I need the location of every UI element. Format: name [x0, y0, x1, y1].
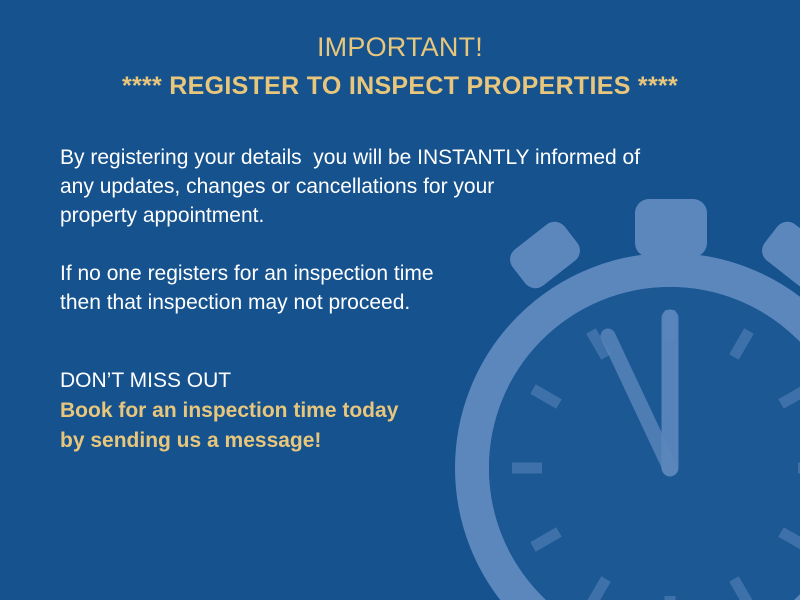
slide-content: IMPORTANT! **** REGISTER TO INSPECT PROP…	[0, 0, 800, 600]
cta-dont-miss-out: DON’T MISS OUT	[60, 366, 620, 396]
heading-important: IMPORTANT!	[0, 30, 800, 64]
paragraph-registering-details: By registering your details you will be …	[60, 143, 720, 230]
heading-block: IMPORTANT! **** REGISTER TO INSPECT PROP…	[0, 30, 800, 104]
paragraph-no-one-registers: If no one registers for an inspection ti…	[60, 259, 720, 317]
heading-register-to-inspect: **** REGISTER TO INSPECT PROPERTIES ****	[0, 68, 800, 104]
slide-canvas: IMPORTANT! **** REGISTER TO INSPECT PROP…	[0, 0, 800, 600]
body-block: By registering your details you will be …	[60, 143, 720, 317]
call-to-action-block: DON’T MISS OUT Book for an inspection ti…	[60, 366, 620, 456]
paragraph-spacer	[60, 230, 720, 259]
cta-send-message: by sending us a message!	[60, 426, 620, 456]
cta-book-inspection: Book for an inspection time today	[60, 396, 620, 426]
